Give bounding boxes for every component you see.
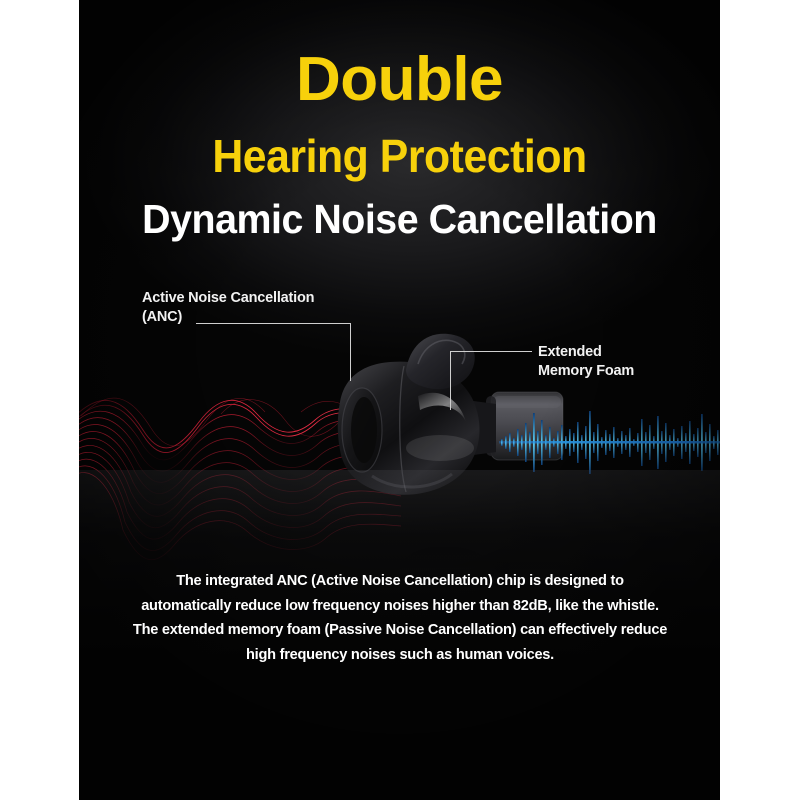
headline-line-2: Hearing Protection <box>101 133 697 179</box>
page-title: Dynamic Noise Cancellation <box>92 199 707 240</box>
description-paragraph: The integrated ANC (Active Noise Cancell… <box>130 569 670 667</box>
callout-leader-foam-horizontal <box>450 351 532 352</box>
product-banner: Double Hearing Protection Dynamic Noise … <box>0 0 800 800</box>
callout-leader-anc-horizontal <box>196 323 351 324</box>
black-product-panel: Double Hearing Protection Dynamic Noise … <box>79 0 720 800</box>
callout-label-anc: Active Noise Cancellation (ANC) <box>142 289 314 327</box>
callout-leader-foam-vertical <box>450 351 451 410</box>
callout-leader-anc-vertical <box>350 323 351 381</box>
earbud-fin <box>406 334 475 389</box>
callout-label-memory-foam: Extended Memory Foam <box>538 343 634 381</box>
headline-line-1: Double <box>79 49 720 111</box>
high-frequency-voice-spectrum-icon <box>499 405 720 480</box>
